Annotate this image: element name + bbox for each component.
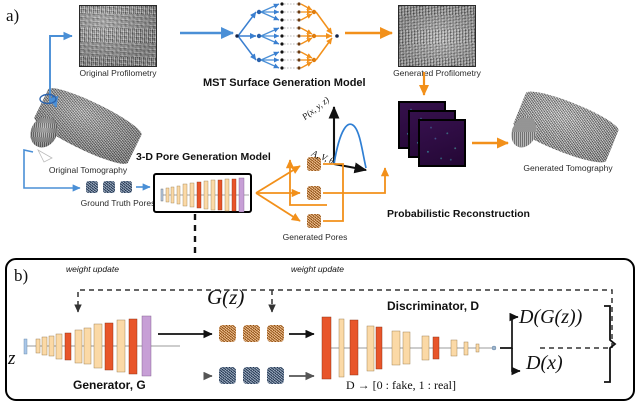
generated-pore-3 <box>307 214 321 228</box>
mst-tree-diagram <box>235 2 339 69</box>
fake-pore-cube-3 <box>267 325 284 342</box>
fake-pore-cube-2 <box>243 325 260 342</box>
original-profilometry-image <box>79 5 157 67</box>
generator-label: Generator, G <box>73 378 146 392</box>
gz-label: G(z) <box>207 285 244 310</box>
real-pore-cube-1 <box>219 367 236 384</box>
ground-truth-pore-1 <box>86 181 98 193</box>
original-tomography-caption: Original Tomography <box>38 166 138 175</box>
discriminator-layers-svg <box>318 310 518 380</box>
probabilistic-reconstruction-title: Probabilistic Reconstruction <box>387 208 530 220</box>
probability-distribution-plot: P(x, y, z) A, V, θ <box>304 98 390 170</box>
decision-rule-label: D → [0 : fake, 1 : real] <box>346 378 456 393</box>
d-of-x-output-label: D(x) <box>526 352 563 375</box>
pore-model-title: 3-D Pore Generation Model <box>136 151 271 163</box>
ground-truth-pores-label: Ground Truth Pores <box>73 199 163 208</box>
generated-tomography-caption: Generated Tomography <box>513 164 623 173</box>
original-profilometry-caption: Original Profilometry <box>79 69 157 78</box>
ground-truth-pore-3 <box>120 181 132 193</box>
panel-b-label: b) <box>14 266 28 286</box>
generator-network <box>20 306 190 378</box>
original-tomography-image <box>30 88 150 166</box>
generated-profilometry-caption: Generated Profilometry <box>392 69 482 78</box>
generator-layers-svg <box>20 306 190 378</box>
fake-pore-cube-1 <box>219 325 236 342</box>
d-of-gz-output-label: D(G(z)) <box>519 306 582 329</box>
latent-z-label: z <box>8 348 15 370</box>
ground-truth-pore-2 <box>103 181 115 193</box>
reconstruction-slice-1 <box>418 119 466 167</box>
pore-model-layers <box>155 175 254 215</box>
generated-profilometry-image <box>398 5 476 67</box>
weight-update-left-label: weight update <box>66 264 119 274</box>
real-pore-cube-3 <box>267 367 284 384</box>
mst-model-title: MST Surface Generation Model <box>203 77 366 89</box>
generated-pore-2 <box>307 186 321 200</box>
weight-update-right-label: weight update <box>291 264 344 274</box>
pore-generation-model-box <box>153 173 252 213</box>
generated-tomography-image <box>510 92 625 164</box>
figure-root: a) Original Profilometry Original Tomogr… <box>0 0 640 406</box>
real-pore-cube-2 <box>243 367 260 384</box>
discriminator-network <box>318 310 518 380</box>
panel-a-label: a) <box>6 6 19 26</box>
generated-pores-label: Generated Pores <box>272 233 358 242</box>
